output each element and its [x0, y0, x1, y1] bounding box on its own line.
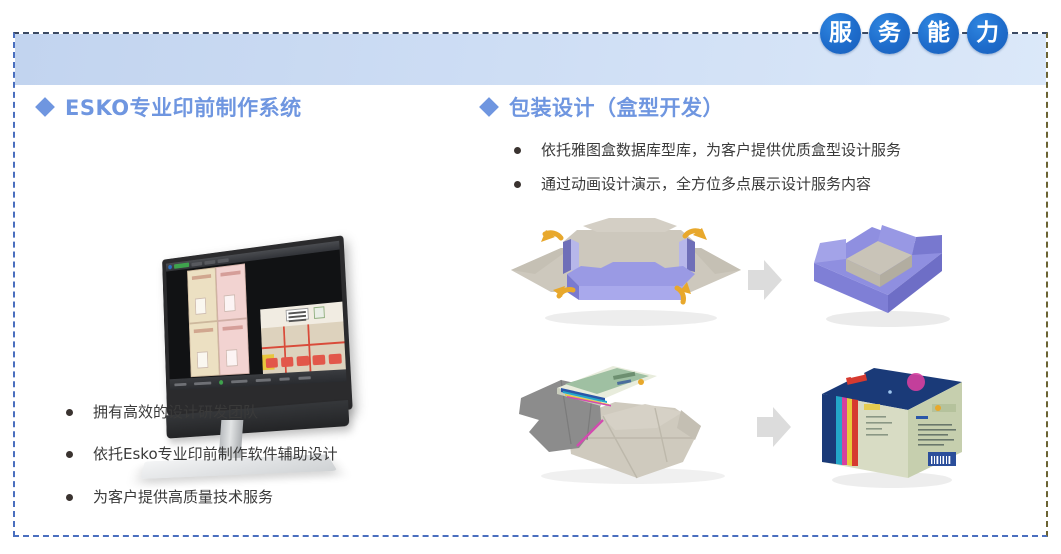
- bullet-dot-icon: [514, 181, 521, 188]
- dieline-editor-panel: [260, 301, 346, 374]
- toolbar-chip: [191, 261, 202, 266]
- flat-carton-blank-with-fold-arrows: [505, 212, 745, 332]
- status-ok-icon: [219, 380, 223, 385]
- badge-wu: 务: [869, 13, 910, 54]
- right-heading-text: 包装设计（盒型开发）: [509, 92, 724, 122]
- layout-cell: [187, 267, 218, 323]
- app-toolbar: [166, 241, 340, 272]
- diamond-icon: [35, 97, 55, 117]
- right-column: 包装设计（盒型开发） 依托雅图盒数据库型库，为客户提供优质盒型设计服务 通过动画…: [482, 92, 1042, 122]
- status-field: [298, 376, 311, 380]
- list-item-label: 依托雅图盒数据库型库，为客户提供优质盒型设计服务: [541, 140, 901, 160]
- badge-li: 力: [967, 13, 1008, 54]
- list-item: 依托雅图盒数据库型库，为客户提供优质盒型设计服务: [514, 140, 901, 160]
- layout-cell: [218, 318, 250, 375]
- dieline-perforation-row: [266, 354, 342, 369]
- toolbar-green-field: [174, 262, 189, 268]
- diamond-icon: [479, 97, 499, 117]
- finished-printed-product-box-3d: [812, 360, 972, 490]
- bullet-dot-icon: [66, 494, 73, 501]
- left-heading-text: ESKO专业印前制作系统: [65, 92, 302, 122]
- layout-row: [189, 318, 250, 377]
- monitor-screen: [162, 235, 353, 415]
- service-capability-badges: 服 务 能 力: [820, 13, 1008, 54]
- bullet-dot-icon: [514, 147, 521, 154]
- list-item: 拥有高效的设计研发团队: [66, 402, 466, 422]
- app-logo-icon: [168, 265, 172, 270]
- list-item-label: 依托Esko专业印前制作软件辅助设计: [93, 444, 338, 464]
- flow-arrow-icon-1: [748, 258, 784, 302]
- status-field: [231, 379, 247, 383]
- status-field: [174, 382, 186, 385]
- toolbar-chip: [218, 258, 229, 263]
- list-item: 通过动画设计演示，全方位多点展示设计服务内容: [514, 174, 901, 194]
- carton-blank-with-printed-graphic-panel: [505, 358, 745, 488]
- status-field: [279, 377, 289, 380]
- list-item-label: 拥有高效的设计研发团队: [93, 402, 258, 422]
- list-item: 依托Esko专业印前制作软件辅助设计: [66, 444, 466, 464]
- left-column: ESKO专业印前制作系统: [38, 92, 458, 122]
- layout-cell: [215, 263, 247, 321]
- label-artwork-thumb: [286, 308, 309, 322]
- list-item-label: 为客户提供高质量技术服务: [93, 487, 273, 507]
- dieline-cut: [262, 341, 347, 349]
- layout-cell: [189, 321, 220, 377]
- status-field: [194, 381, 211, 385]
- right-heading: 包装设计（盒型开发）: [482, 92, 1042, 122]
- layout-row: [187, 263, 247, 323]
- list-item: 为客户提供高质量技术服务: [66, 487, 466, 507]
- monitor-screen-content: [166, 241, 347, 390]
- list-item-label: 通过动画设计演示，全方位多点展示设计服务内容: [541, 174, 871, 194]
- badge-fu: 服: [820, 13, 861, 54]
- right-bullet-list: 依托雅图盒数据库型库，为客户提供优质盒型设计服务 通过动画设计演示，全方位多点展…: [514, 140, 901, 209]
- badge-neng: 能: [918, 13, 959, 54]
- swatch-icon: [314, 306, 325, 319]
- left-heading: ESKO专业印前制作系统: [38, 92, 458, 122]
- flow-arrow-icon-2: [757, 405, 793, 449]
- status-field: [256, 378, 271, 382]
- slide-canvas: 服 务 能 力 ESKO专业印前制作系统: [0, 0, 1061, 554]
- imposition-layout-panel: [187, 263, 250, 377]
- toolbar-chip: [204, 259, 215, 264]
- bullet-dot-icon: [66, 451, 73, 458]
- bullet-dot-icon: [66, 409, 73, 416]
- folded-open-box-3d: [800, 215, 970, 335]
- left-bullet-list: 拥有高效的设计研发团队 依托Esko专业印前制作软件辅助设计 为客户提供高质量技…: [66, 402, 466, 529]
